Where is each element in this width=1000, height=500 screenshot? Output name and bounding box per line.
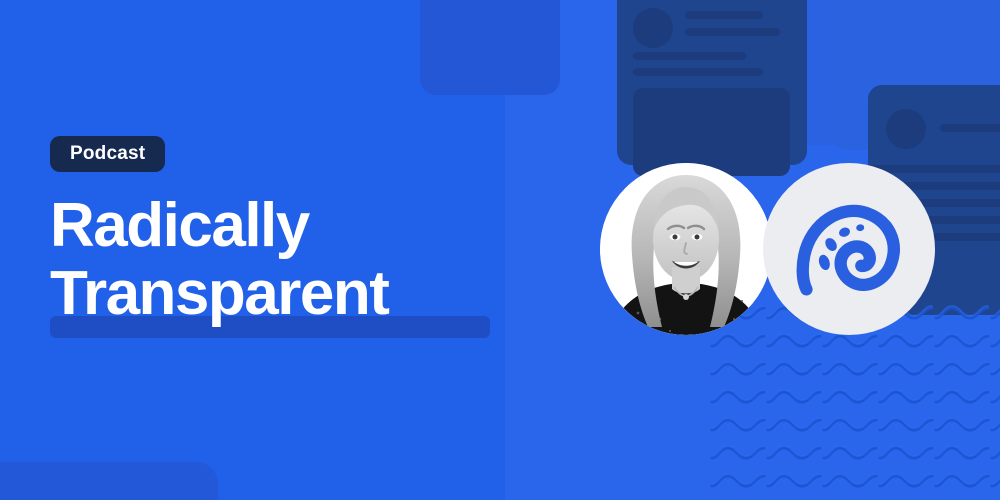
person-portrait-icon [600,163,772,335]
skeleton-avatar-icon [633,8,673,48]
skeleton-line [633,68,763,76]
podcast-banner: Podcast Radically Transparent [0,0,1000,500]
brand-logo-avatar [763,163,935,335]
spiral-wave-logo-icon [793,193,905,305]
skeleton-avatar-icon [886,109,926,149]
guest-portrait-avatar [600,163,772,335]
decorative-skeleton-card-a [617,0,807,165]
category-badge: Podcast [50,136,165,172]
category-badge-label: Podcast [70,143,145,165]
page-title-line-1: Radically [50,192,520,260]
page-title-line-2: Transparent [50,260,520,328]
skeleton-line [685,28,780,36]
skeleton-line [633,52,746,60]
page-title: Radically Transparent [50,192,520,328]
banner-content: Podcast Radically Transparent [50,0,570,500]
skeleton-line [940,124,1000,132]
skeleton-image-block [633,88,790,176]
skeleton-line [685,11,763,19]
